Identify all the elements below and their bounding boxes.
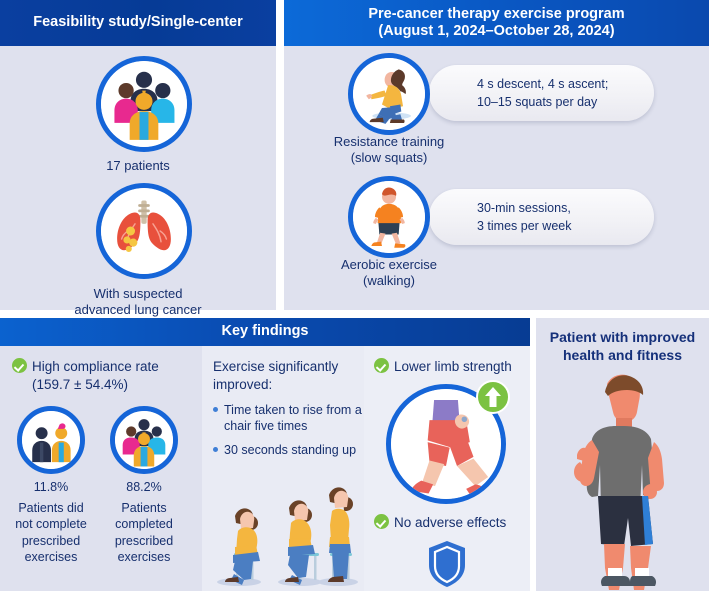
squat-exercise-icon — [348, 53, 430, 135]
exercise-heading-line2: improved: — [213, 376, 361, 394]
stat-0-label-line1: Patients did — [6, 500, 96, 516]
resistance-caption-line2: (slow squats) — [308, 150, 470, 166]
aerobic-detail-line1: 30-min sessions, — [477, 199, 571, 217]
feasibility-body: 17 patients W — [0, 46, 276, 310]
exercise-heading: Exercise significantly improved: — [213, 358, 361, 393]
no-adverse-effects-heading: No adverse effects — [374, 514, 528, 532]
exercise-bullet-0: Time taken to rise from a chair five tim… — [213, 402, 363, 435]
walking-person-icon — [348, 176, 430, 258]
panel-key-findings: Key findings High compliance rate (159.7… — [0, 318, 530, 591]
lungs-with-tumor-icon — [96, 183, 192, 279]
stat-1-label: Patients completed prescribed exercises — [99, 500, 189, 565]
feasibility-title: Feasibility study/Single-center — [0, 0, 276, 46]
findings-column-compliance: High compliance rate (159.7 ± 54.4%) — [0, 346, 202, 591]
resistance-detail-line2: 10–15 squats per day — [477, 93, 608, 111]
feasibility-caption-1: 17 patients — [0, 158, 276, 174]
resistance-caption: Resistance training (slow squats) — [308, 134, 470, 167]
no-adverse-effects-label: No adverse effects — [394, 514, 506, 532]
aerobic-caption-line2: (walking) — [308, 273, 470, 289]
feasibility-caption-2-line1: With suspected — [0, 286, 276, 302]
exercise-bullet-1: 30 seconds standing up — [213, 442, 363, 458]
standing-man-thumbs-up-icon — [562, 370, 684, 591]
check-icon — [12, 358, 27, 373]
compliance-heading: High compliance rate (159.7 ± 54.4%) — [12, 358, 198, 393]
stat-1-label-line3: prescribed — [99, 533, 189, 549]
key-findings-columns: High compliance rate (159.7 ± 54.4%) — [0, 346, 530, 591]
aerobic-detail-pill: 30-min sessions, 3 times per week — [429, 189, 654, 245]
strength-heading-label: Lower limb strength — [394, 358, 512, 376]
feasibility-caption-2: With suspected advanced lung cancer — [0, 286, 276, 319]
resistance-detail-pill: 4 s descent, 4 s ascent; 10–15 squats pe… — [429, 65, 654, 121]
stat-0-label: Patients did not complete prescribed exe… — [6, 500, 96, 565]
stat-0-percent: 11.8% — [10, 479, 92, 495]
check-icon — [374, 514, 389, 529]
panel-patient-outcome: Patient with improved health and fitness — [536, 318, 709, 591]
program-title: Pre-cancer therapy exercise program (Aug… — [284, 0, 709, 46]
exercise-bullets: Time taken to rise from a chair five tim… — [213, 402, 363, 465]
check-icon — [374, 358, 389, 373]
patient-panel-title: Patient with improved health and fitness — [536, 318, 709, 364]
key-findings-title: Key findings — [0, 318, 530, 346]
shield-icon — [426, 540, 468, 588]
stat-1-percent: 88.2% — [103, 479, 185, 495]
findings-column-strength: Lower limb strength — [364, 346, 530, 591]
two-patients-icon — [17, 406, 85, 474]
compliance-heading-line2: (159.7 ± 54.4%) — [32, 376, 159, 394]
exercise-heading-line1: Exercise significantly — [213, 358, 361, 376]
compliance-heading-line1: High compliance rate — [32, 358, 159, 376]
aerobic-caption-line1: Aerobic exercise — [308, 257, 470, 273]
panel-feasibility-study: Feasibility study/Single-center — [0, 0, 276, 310]
findings-column-exercise: Exercise significantly improved: Time ta… — [202, 346, 364, 591]
stat-1-label-line2: completed — [99, 516, 189, 532]
sit-to-stand-sequence-icon — [204, 481, 364, 591]
group-of-patients-icon — [96, 56, 192, 152]
patient-title-line1: Patient with improved — [536, 329, 709, 347]
feasibility-caption-2-line2: advanced lung cancer — [0, 302, 276, 318]
panel-exercise-program: Pre-cancer therapy exercise program (Aug… — [284, 0, 709, 310]
stat-1-label-line1: Patients — [99, 500, 189, 516]
group-of-patients-icon-small — [110, 406, 178, 474]
stat-0-label-line2: not complete — [6, 516, 96, 532]
program-title-line2: (August 1, 2024–October 28, 2024) — [368, 23, 624, 40]
stat-0-label-line4: exercises — [6, 549, 96, 565]
aerobic-caption: Aerobic exercise (walking) — [308, 257, 470, 290]
aerobic-detail-line2: 3 times per week — [477, 217, 571, 235]
resistance-caption-line1: Resistance training — [308, 134, 470, 150]
patient-title-line2: health and fitness — [536, 347, 709, 365]
infographic-root: Feasibility study/Single-center — [0, 0, 709, 591]
strength-heading: Lower limb strength — [374, 358, 528, 376]
stat-1-label-line4: exercises — [99, 549, 189, 565]
program-body: 4 s descent, 4 s ascent; 10–15 squats pe… — [284, 46, 709, 310]
resistance-detail-line1: 4 s descent, 4 s ascent; — [477, 75, 608, 93]
stat-0-label-line3: prescribed — [6, 533, 96, 549]
program-title-line1: Pre-cancer therapy exercise program — [368, 6, 624, 23]
up-arrow-icon — [476, 380, 510, 414]
